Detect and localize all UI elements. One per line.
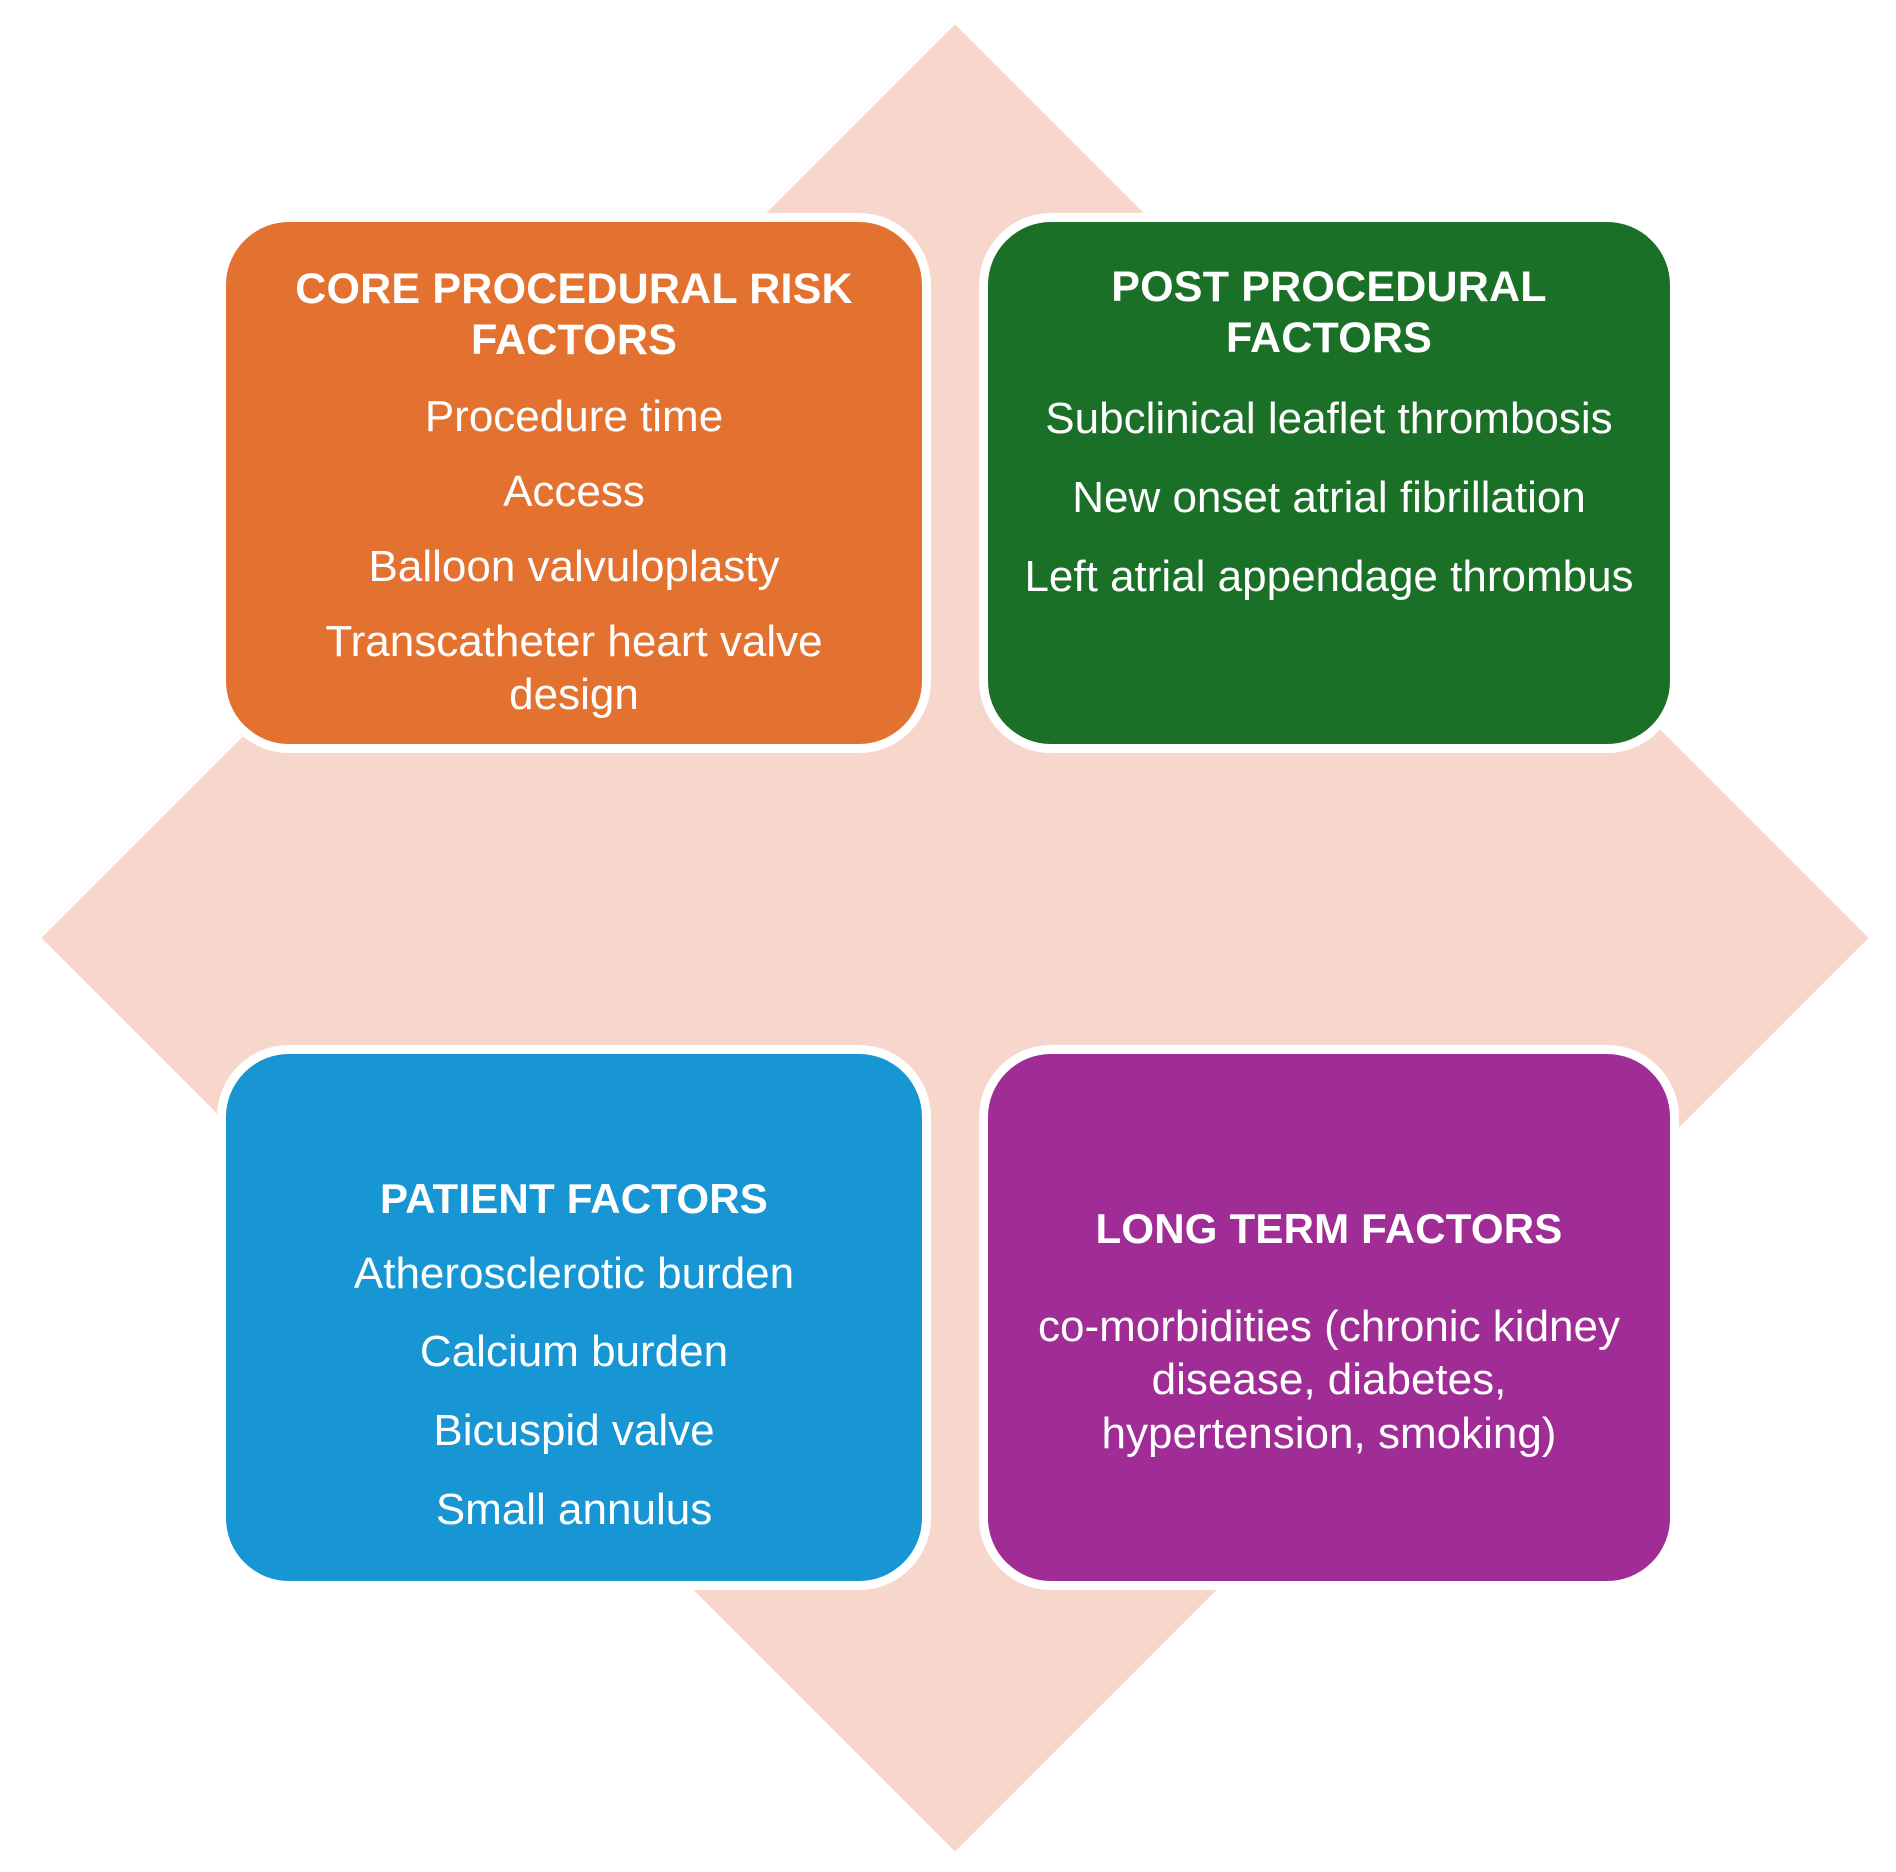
quadrant-core-procedural-risk-factors: CORE PROCEDURAL RISK FACTORS Procedure t… xyxy=(217,213,931,753)
quadrant-item-list-post: Subclinical leaflet thrombosis New onset… xyxy=(1022,393,1636,629)
quadrant-title-long-term-factors: LONG TERM FACTORS xyxy=(1096,1204,1563,1254)
list-item: Subclinical leaflet thrombosis xyxy=(1045,393,1612,446)
list-item: co-morbidities (chronic kidney disease, … xyxy=(1016,1300,1642,1461)
list-item: Transcatheter heart valve design xyxy=(256,616,892,722)
list-item: Left atrial appendage thrombus xyxy=(1024,551,1633,604)
quadrant-title-core-procedural-risk-factors: CORE PROCEDURAL RISK FACTORS xyxy=(256,264,892,365)
diagram-canvas: CORE PROCEDURAL RISK FACTORS Procedure t… xyxy=(0,0,1896,1872)
quadrant-title-patient-factors: PATIENT FACTORS xyxy=(380,1174,768,1224)
list-item: Calcium burden xyxy=(420,1326,728,1379)
list-item: Bicuspid valve xyxy=(433,1405,714,1458)
list-item: Small annulus xyxy=(436,1484,712,1537)
quadrant-item-list-core: Procedure time Access Balloon valvulopla… xyxy=(256,391,892,753)
quadrant-item-list-long: co-morbidities (chronic kidney disease, … xyxy=(1016,1300,1642,1461)
list-item: New onset atrial fibrillation xyxy=(1072,472,1586,525)
quadrant-post-procedural-factors: POST PROCEDURAL FACTORS Subclinical leaf… xyxy=(979,213,1679,753)
list-item: Balloon valvuloplasty xyxy=(369,541,780,594)
quadrant-item-list-patient: Atherosclerotic burden Calcium burden Bi… xyxy=(256,1248,892,1563)
list-item: Atherosclerotic burden xyxy=(354,1248,794,1301)
quadrant-long-term-factors: LONG TERM FACTORS co-morbidities (chroni… xyxy=(979,1045,1679,1590)
list-item: Procedure time xyxy=(425,391,723,444)
list-item: Operator expertise xyxy=(392,743,756,753)
list-item: Access xyxy=(503,466,645,519)
quadrant-patient-factors: PATIENT FACTORS Atherosclerotic burden C… xyxy=(217,1045,931,1590)
quadrant-title-post-procedural-factors: POST PROCEDURAL FACTORS xyxy=(1022,262,1636,363)
